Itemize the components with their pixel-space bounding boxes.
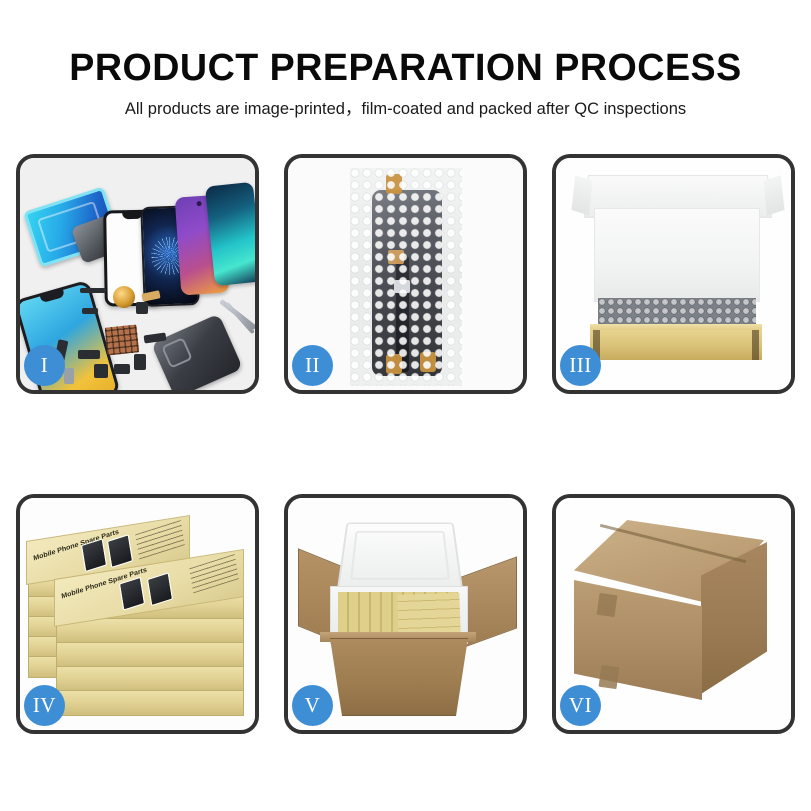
foam-sheet — [594, 208, 760, 302]
process-step-3: III — [552, 154, 795, 394]
step-badge-5: V — [292, 685, 333, 726]
tweezers-tool — [225, 302, 255, 334]
speaker-component — [113, 286, 135, 308]
process-step-5: V — [284, 494, 527, 734]
page-title: PRODUCT PREPARATION PROCESS — [4, 0, 807, 90]
packed-yellow-boxes — [397, 593, 460, 637]
product-image-swatch — [119, 577, 145, 611]
step-badge-6: VI — [560, 685, 601, 726]
bubble-wrap-bag — [350, 168, 462, 386]
process-step-grid: I II III — [16, 154, 795, 734]
foam-lid — [337, 522, 464, 591]
packing-tape — [597, 593, 618, 617]
cardboard-carton — [324, 638, 474, 716]
spec-lines — [135, 520, 185, 559]
step-badge-3: III — [560, 345, 601, 386]
stacked-box — [56, 642, 244, 668]
phone-back-housing — [151, 314, 243, 390]
product-image-swatch — [147, 572, 173, 606]
stacked-box — [56, 666, 244, 692]
ic-chip-array — [105, 324, 140, 355]
spare-part — [114, 364, 130, 374]
spare-part — [82, 308, 98, 314]
carton-front-face — [574, 580, 702, 700]
step-badge-1: I — [24, 345, 65, 386]
step-badge-4: IV — [24, 685, 65, 726]
product-image-swatch — [107, 534, 133, 568]
process-step-6: VI — [552, 494, 795, 734]
spare-part — [78, 350, 100, 359]
spare-part — [134, 354, 146, 370]
page-header: PRODUCT PREPARATION PROCESS All products… — [0, 0, 811, 120]
spare-part — [94, 364, 108, 378]
spare-part — [80, 288, 106, 293]
page-subtitle: All products are image-printed，film-coat… — [0, 90, 811, 120]
product-image-swatch — [81, 538, 107, 572]
packing-tape — [599, 665, 620, 689]
yellow-kraft-box — [590, 330, 762, 360]
process-step-2: II — [284, 154, 527, 394]
bubble-texture — [350, 168, 462, 386]
box-label-text: Mobile Phone Spare Parts — [33, 529, 119, 563]
process-step-4: Mobile Phone Spare Parts Mobile Phone Sp… — [16, 494, 259, 734]
step-badge-2: II — [292, 345, 333, 386]
spare-part — [136, 302, 148, 314]
spare-part — [64, 368, 74, 384]
spec-lines — [189, 554, 239, 593]
process-step-1: I — [16, 154, 259, 394]
stacked-box — [56, 690, 244, 716]
